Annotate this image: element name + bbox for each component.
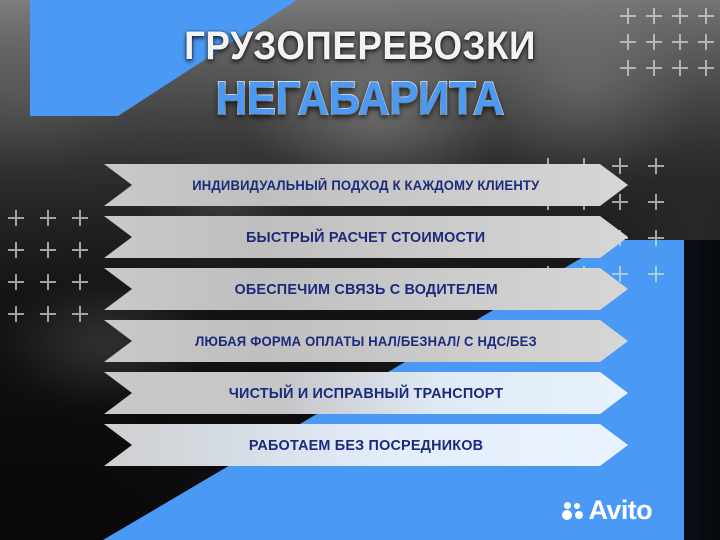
feature-label: ЧИСТЫЙ И ИСПРАВНЫЙ ТРАНСПОРТ [229,385,504,402]
plus-icon [620,8,636,24]
feature-label: ИНДИВИДУАЛЬНЫЙ ПОДХОД К КАЖДОМУ КЛИЕНТУ [192,178,539,193]
feature-label: БЫСТРЫЙ РАСЧЕТ СТОИМОСТИ [246,229,485,246]
avito-dots-icon [562,501,584,521]
headline: ГРУЗОПЕРЕВОЗКИ НЕГАБАРИТА [0,24,720,125]
feature-label: РАБОТАЕМ БЕЗ ПОСРЕДНИКОВ [249,437,483,454]
plus-icon [672,8,688,24]
advertisement-banner: ГРУЗОПЕРЕВОЗКИ НЕГАБАРИТА ИНДИВИДУАЛЬНЫЙ… [0,0,720,540]
feature-banner: ЧИСТЫЙ И ИСПРАВНЫЙ ТРАНСПОРТ [104,372,628,414]
feature-banner: ОБЕСПЕЧИМ СВЯЗЬ С ВОДИТЕЛЕМ [104,268,628,310]
headline-line-2: НЕГАБАРИТА [22,71,699,125]
feature-list: ИНДИВИДУАЛЬНЫЙ ПОДХОД К КАЖДОМУ КЛИЕНТУБ… [0,164,720,476]
avito-logo: Avito [562,495,653,526]
feature-label: ЛЮБАЯ ФОРМА ОПЛАТЫ НАЛ/БЕЗНАЛ/ С НДС/БЕЗ [195,334,537,349]
plus-icon [646,8,662,24]
feature-label: ОБЕСПЕЧИМ СВЯЗЬ С ВОДИТЕЛЕМ [234,281,497,298]
plus-icon [698,8,714,24]
feature-banner: РАБОТАЕМ БЕЗ ПОСРЕДНИКОВ [104,424,628,466]
headline-line-1: ГРУЗОПЕРЕВОЗКИ [29,24,691,69]
feature-banner: ИНДИВИДУАЛЬНЫЙ ПОДХОД К КАЖДОМУ КЛИЕНТУ [104,164,628,206]
avito-wordmark: Avito [589,495,653,526]
feature-banner: БЫСТРЫЙ РАСЧЕТ СТОИМОСТИ [104,216,628,258]
feature-banner: ЛЮБАЯ ФОРМА ОПЛАТЫ НАЛ/БЕЗНАЛ/ С НДС/БЕЗ [104,320,628,362]
